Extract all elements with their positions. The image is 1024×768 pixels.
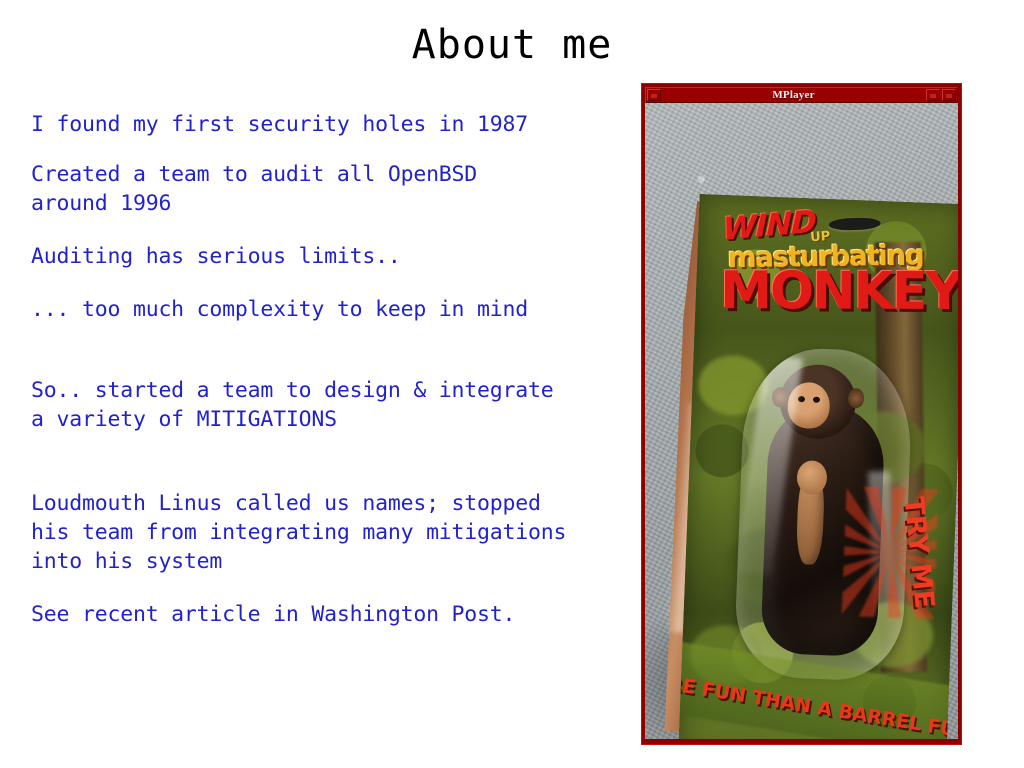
mplayer-titlebar[interactable]: MPlayer: [645, 87, 958, 103]
bullet-paragraph: See recent article in Washington Post.: [31, 600, 631, 629]
toy-package-card: WIND UP masturbating MONKEY TRY ME: [678, 194, 958, 739]
bullet-paragraph: ... too much complexity to keep in mind: [31, 295, 631, 324]
monkey-eye-left: [798, 396, 805, 402]
bullet-paragraph: Auditing has serious limits..: [31, 242, 631, 271]
bullet-paragraph-line: a variety of MITIGATIONS: [31, 405, 631, 434]
mplayer-video-surface[interactable]: WIND UP masturbating MONKEY TRY ME: [645, 103, 958, 739]
spacer: [31, 139, 631, 160]
window-controls[interactable]: [925, 88, 957, 102]
mplayer-window-title: MPlayer: [662, 88, 925, 102]
monkey-ear-right: [848, 388, 865, 409]
monkey-eye-right: [813, 397, 820, 403]
spacer: [31, 434, 631, 489]
bullet-paragraph: Loudmouth Linus called us names; stopped: [31, 489, 631, 518]
package-headline-text: MONKEY: [720, 265, 958, 318]
mplayer-window[interactable]: MPlayer WIND UP masturbating MONKEY: [641, 83, 962, 745]
bullet-paragraph-line: around 1996: [31, 189, 631, 218]
page-title: About me: [0, 22, 1024, 68]
spacer: [31, 576, 631, 600]
spacer: [31, 324, 631, 376]
bullet-paragraph: So.. started a team to design & integrat…: [31, 376, 631, 405]
window-menu-icon[interactable]: [647, 89, 661, 101]
slide-body-text: I found my first security holes in 1987 …: [31, 110, 631, 629]
maximize-icon[interactable]: [926, 89, 940, 101]
package-hang-hole: [829, 217, 881, 231]
bullet-paragraph: I found my first security holes in 1987: [31, 110, 631, 139]
bullet-paragraph: Created a team to audit all OpenBSD: [31, 160, 631, 189]
bullet-paragraph-line: into his system: [31, 547, 631, 576]
spacer: [31, 271, 631, 295]
spacer: [31, 218, 631, 242]
bullet-paragraph-line: his team from integrating many mitigatio…: [31, 518, 631, 547]
close-icon[interactable]: [942, 89, 956, 101]
